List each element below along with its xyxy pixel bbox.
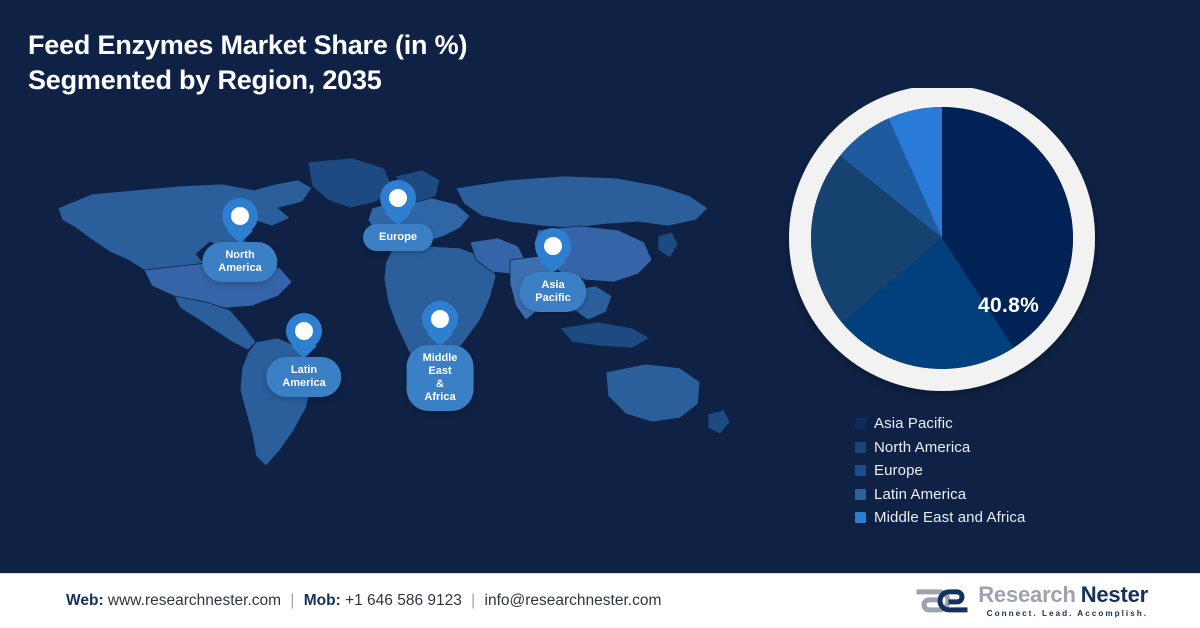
pie-slices: [811, 107, 1073, 369]
legend-label: Europe: [874, 462, 923, 479]
brand-logo[interactable]: ResearchNester Connect. Lead. Accomplish…: [915, 584, 1148, 618]
legend-swatch-icon: [855, 442, 866, 453]
legend-label: North America: [874, 439, 970, 456]
pie-chart: 40.8%: [764, 88, 1120, 400]
pie-slice-value-asia-pacific: 40.8%: [978, 294, 1039, 318]
map-pin-icon: [286, 313, 322, 359]
map-pin-icon: [422, 301, 458, 347]
map-marker-label-middle-east-africa: Middle East & Africa: [407, 345, 474, 411]
world-map: North America Europe Asia Pacific Latin …: [40, 150, 740, 530]
footer-web-value[interactable]: www.researchnester.com: [108, 592, 281, 609]
footer-bar: Web: www.researchnester.com | Mob: +1 64…: [0, 573, 1200, 628]
map-pin-icon: [535, 228, 571, 274]
footer-separator: |: [466, 592, 480, 609]
title-line-2: Segmented by Region, 2035: [28, 63, 668, 98]
legend-swatch-icon: [855, 489, 866, 500]
map-marker-label-north-america: North America: [202, 242, 277, 282]
legend-item-latin-america[interactable]: Latin America: [855, 483, 1025, 507]
map-marker-label-latin-america: Latin America: [266, 357, 341, 397]
legend-item-middle-east-africa[interactable]: Middle East and Africa: [855, 506, 1025, 530]
legend-label: Latin America: [874, 486, 966, 503]
map-pin-icon: [380, 180, 416, 226]
legend-item-north-america[interactable]: North America: [855, 436, 1025, 460]
legend-label: Asia Pacific: [874, 415, 953, 432]
footer-web-label: Web:: [66, 592, 104, 609]
logo-name-research: Research: [978, 582, 1075, 607]
map-marker-label-asia-pacific: Asia Pacific: [519, 272, 586, 312]
legend-swatch-icon: [855, 418, 866, 429]
legend-swatch-icon: [855, 512, 866, 523]
title-line-1: Feed Enzymes Market Share (in %): [28, 28, 668, 63]
legend-item-asia-pacific[interactable]: Asia Pacific: [855, 412, 1025, 436]
footer-mob-label: Mob:: [304, 592, 341, 609]
legend-swatch-icon: [855, 465, 866, 476]
page-title: Feed Enzymes Market Share (in %) Segment…: [28, 28, 668, 97]
legend-item-europe[interactable]: Europe: [855, 459, 1025, 483]
footer-separator: |: [285, 592, 299, 609]
footer-mob-value[interactable]: +1 646 586 9123: [345, 592, 462, 609]
logo-link-icon: [915, 585, 969, 617]
footer-contact: Web: www.researchnester.com | Mob: +1 64…: [66, 592, 661, 610]
infographic-canvas: Feed Enzymes Market Share (in %) Segment…: [0, 0, 1200, 628]
footer-email[interactable]: info@researchnester.com: [485, 592, 662, 609]
logo-name-nester: Nester: [1081, 582, 1148, 607]
map-pin-icon: [222, 198, 258, 244]
logo-text: ResearchNester Connect. Lead. Accomplish…: [978, 584, 1148, 618]
logo-tagline: Connect. Lead. Accomplish.: [978, 610, 1148, 618]
pie-chart-svg: [764, 88, 1120, 400]
logo-name: ResearchNester: [978, 584, 1148, 606]
legend-label: Middle East and Africa: [874, 509, 1025, 526]
map-marker-label-europe: Europe: [363, 224, 433, 251]
chart-legend: Asia Pacific North America Europe Latin …: [855, 412, 1025, 530]
